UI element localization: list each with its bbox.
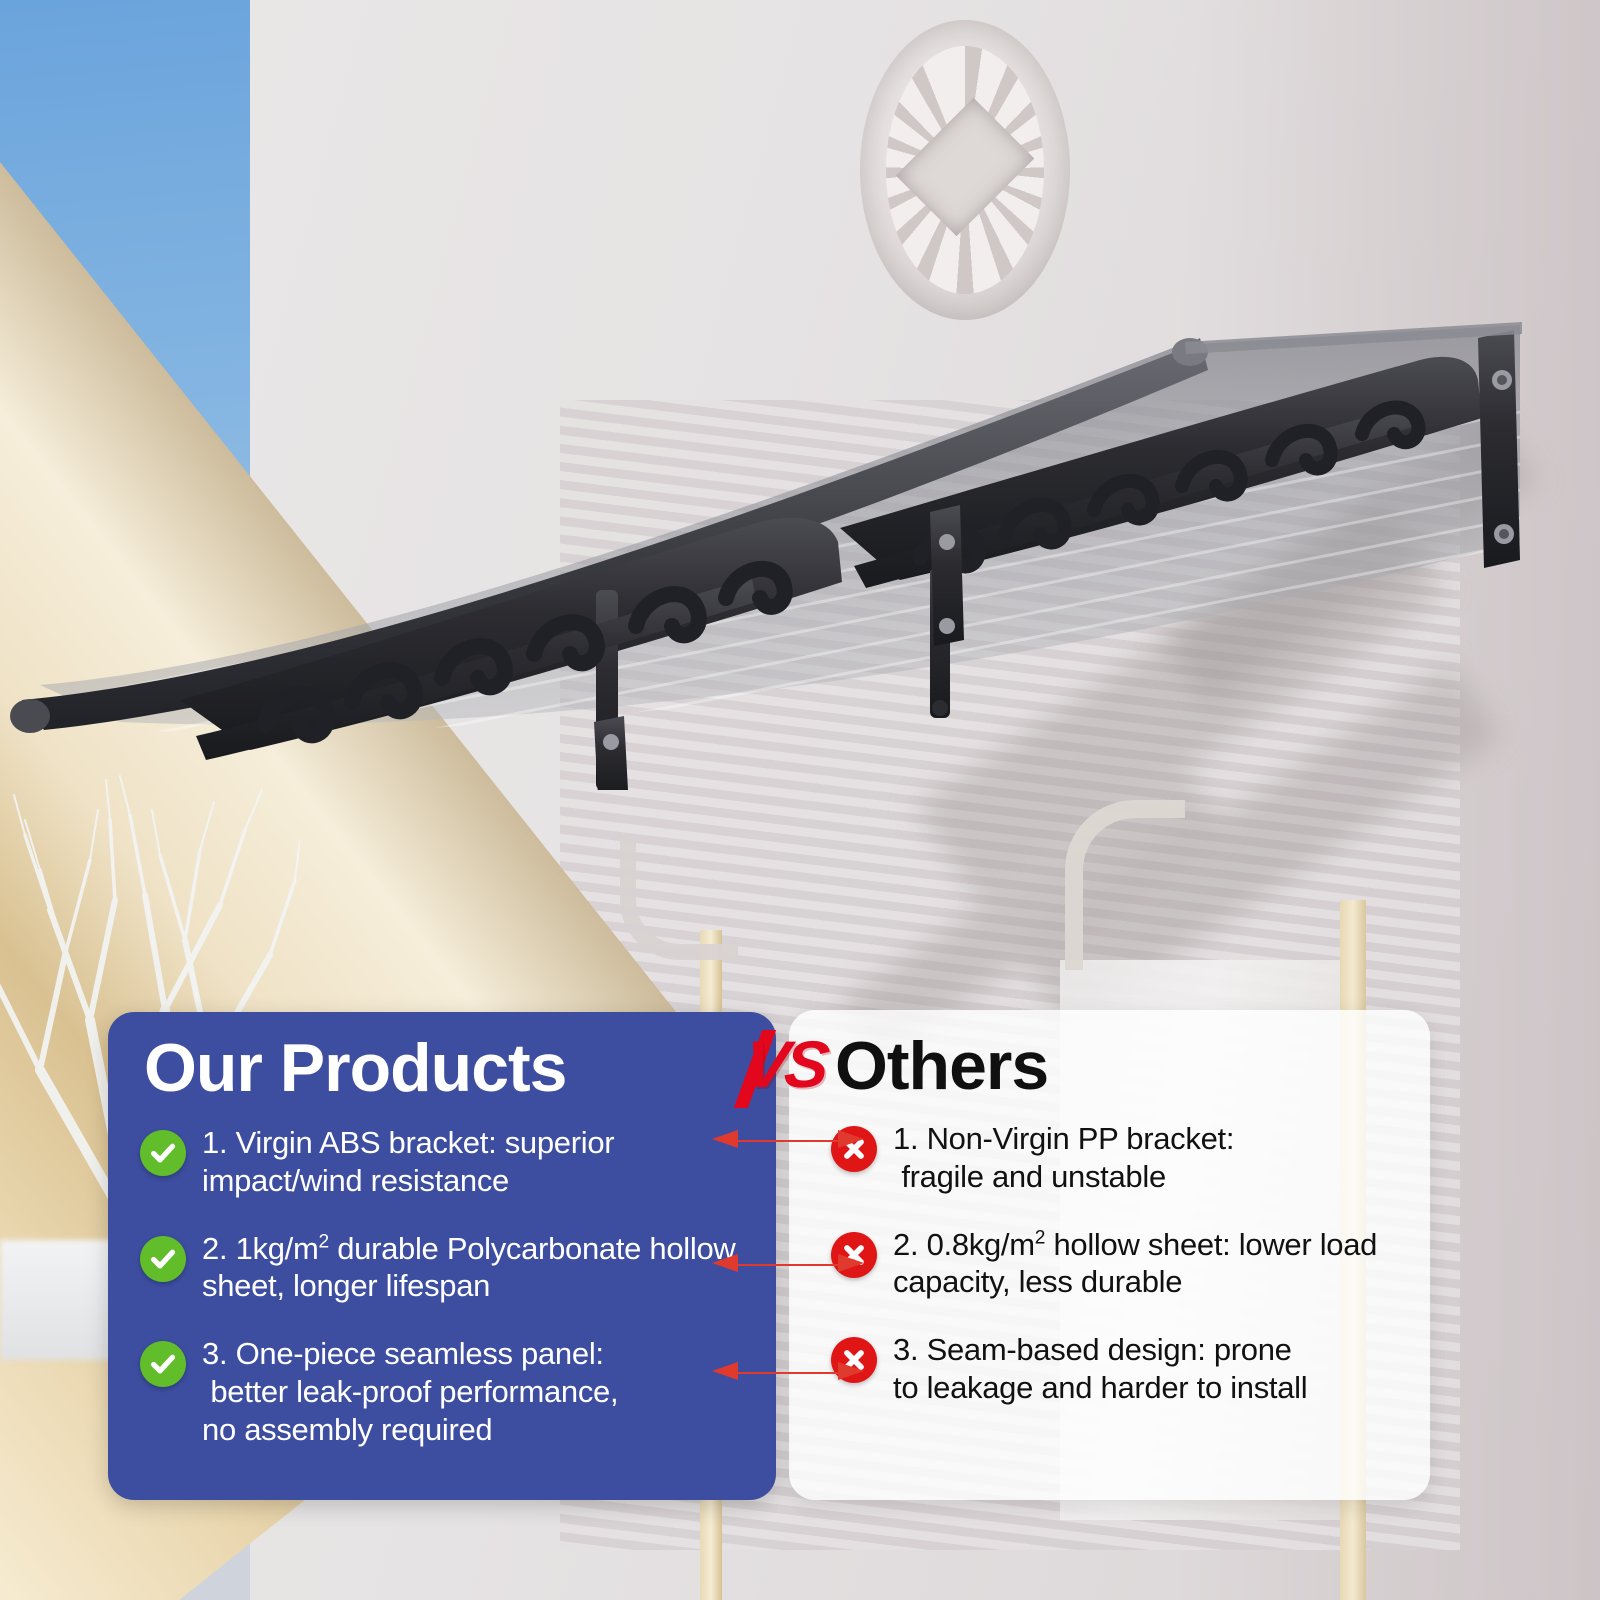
our-products-title: Our Products (144, 1034, 567, 1102)
vs-label: VS (741, 1026, 829, 1102)
our-products-list: 1. Virgin ABS bracket: superior impact/w… (108, 1124, 776, 1467)
arrow-line (738, 1140, 838, 1142)
list-item-label: 3. One-piece seamless panel: better leak… (202, 1335, 618, 1448)
list-item: 1. Non-Virgin PP bracket: fragile and un… (789, 1120, 1430, 1196)
others-title: Others (835, 1032, 1048, 1100)
list-item: 3. Seam-based design: proneto leakage an… (789, 1331, 1430, 1407)
list-item: 3. One-piece seamless panel: better leak… (108, 1335, 776, 1448)
list-item-label: 1. Non-Virgin PP bracket: fragile and un… (893, 1120, 1234, 1196)
arrow-head-right-icon (838, 1130, 864, 1148)
list-item-label: 1. Virgin ABS bracket: superior impact/w… (202, 1124, 750, 1200)
our-products-card: Our Products 1. Virgin ABS bracket: supe… (108, 1012, 776, 1500)
comparison-overlay: Our Products 1. Virgin ABS bracket: supe… (0, 0, 1600, 1600)
check-circle-icon (140, 1236, 186, 1282)
check-circle-icon (140, 1130, 186, 1176)
arrow-line (738, 1372, 838, 1374)
list-item-label: 3. Seam-based design: proneto leakage an… (893, 1331, 1307, 1407)
arrow-head-left-icon (712, 1130, 738, 1148)
list-item-label: 2. 1kg/m2 durable Polycarbonate hollow s… (202, 1230, 750, 1306)
check-circle-icon (140, 1341, 186, 1387)
others-card: Others 1. Non-Virgin PP bracket: fragile… (789, 1010, 1430, 1500)
others-list: 1. Non-Virgin PP bracket: fragile and un… (789, 1120, 1430, 1425)
arrow-head-left-icon (712, 1254, 738, 1272)
arrow-line (738, 1264, 838, 1266)
comparison-arrow-1 (712, 1138, 864, 1144)
comparison-arrow-2 (712, 1262, 864, 1268)
comparison-arrow-3 (712, 1370, 864, 1376)
arrow-head-right-icon (838, 1254, 864, 1272)
list-item: 2. 1kg/m2 durable Polycarbonate hollow s… (108, 1230, 776, 1306)
list-item: 1. Virgin ABS bracket: superior impact/w… (108, 1124, 776, 1200)
arrow-head-right-icon (838, 1362, 864, 1380)
arrow-head-left-icon (712, 1362, 738, 1380)
list-item-label: 2. 0.8kg/m2 hollow sheet: lower load cap… (893, 1226, 1412, 1302)
list-item: 2. 0.8kg/m2 hollow sheet: lower load cap… (789, 1226, 1430, 1302)
